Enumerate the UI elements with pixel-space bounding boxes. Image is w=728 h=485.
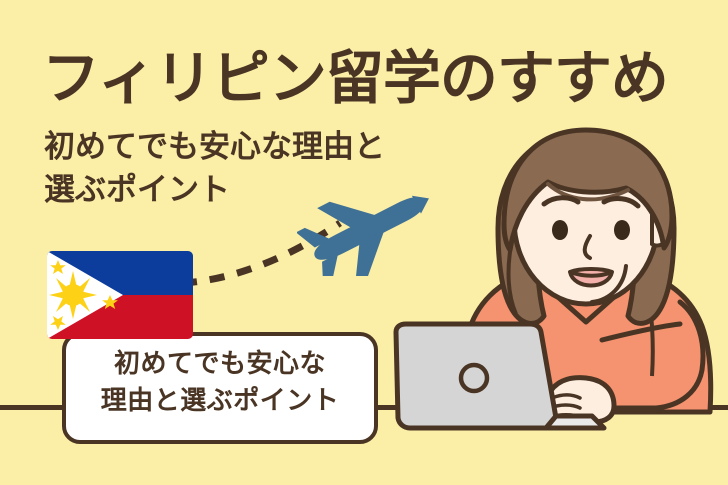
laptop <box>380 320 728 440</box>
callout-box: 初めてでも安心な 理由と選ぶポイント <box>62 332 378 444</box>
laptop-base <box>546 416 604 428</box>
laptop-lid <box>396 324 556 428</box>
page-title: フィリピン留学のすすめ <box>42 48 722 109</box>
callout-text: 初めてでも安心な 理由と選ぶポイント <box>66 346 374 420</box>
callout-line-1: 初めてでも安心な <box>66 346 374 383</box>
flag-sun <box>49 271 97 319</box>
mouth <box>570 269 612 286</box>
promo-banner: フィリピン留学のすすめ 初めてでも安心な理由と 選ぶポイント <box>0 0 728 485</box>
callout-line-2: 理由と選ぶポイント <box>66 383 374 420</box>
airplane-icon <box>297 186 437 276</box>
philippines-flag <box>47 251 193 339</box>
